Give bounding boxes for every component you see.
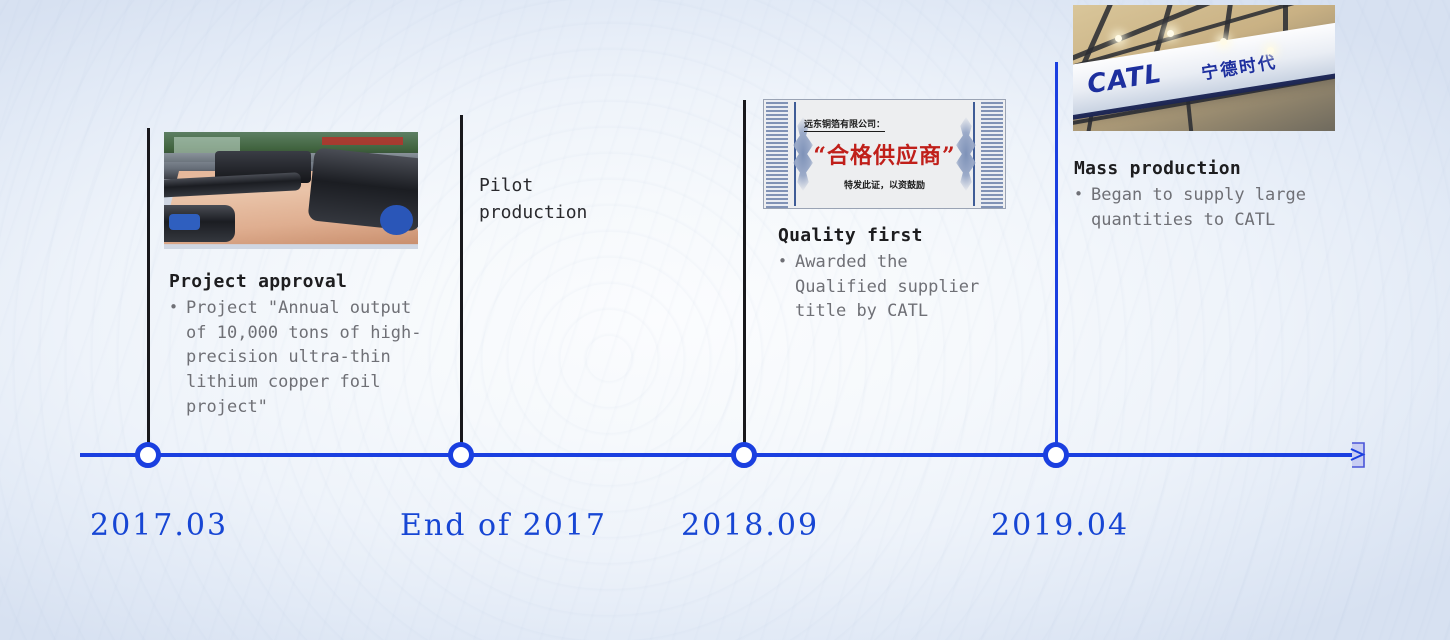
timeline-node-3[interactable] [731,442,757,468]
catl-chinese-text: 宁德时代 [1199,48,1278,85]
certificate-footer: 特发此证，以资鼓励 [844,178,925,191]
bullet-marker-icon: • [1074,183,1083,232]
timeline-date-1: 2017.03 [90,508,228,543]
timeline-axis [80,453,1360,457]
milestone-bullet-3: • Awarded the Qualified supplier title b… [778,250,1008,324]
timeline-date-4: 2019.04 [991,508,1129,543]
milestone-bullet-text-1: Project "Annual output of 10,000 tons of… [186,296,431,419]
certificate-recipient: 远东铜箔有限公司： [804,117,885,132]
milestone-heading-2-line1: Pilot [479,172,699,199]
certificate-title: “合格供应商” [813,138,955,170]
arrow-right-icon [1349,440,1369,470]
milestone-bullet-text-3: Awarded the Qualified supplier title by … [795,250,1008,324]
catl-logo-text: CATL [1085,59,1164,100]
milestone-heading-3: Quality first [778,225,1008,246]
milestone-stem-2 [460,115,463,450]
milestone-text-3: Quality first • Awarded the Qualified su… [778,225,1008,324]
milestone-text-4: Mass production • Began to supply large … [1074,158,1326,232]
timeline-date-3: 2018.09 [681,508,819,543]
milestone-text-2: Pilot production [479,172,699,226]
milestone-bullet-4: • Began to supply large quantities to CA… [1074,183,1326,232]
timeline-node-4[interactable] [1043,442,1069,468]
copper-foil-production-line-photo [164,132,418,249]
timeline-date-2: End of 2017 [400,508,607,543]
milestone-heading-1: Project approval [169,271,431,292]
milestone-stem-1 [147,128,150,450]
slide-canvas: 远东铜箔有限公司： “合格供应商” 特发此证，以资鼓励 CATL 宁德时代 [0,0,1450,640]
catl-booth-banner-photo: CATL 宁德时代 [1073,5,1335,131]
qualified-supplier-certificate-photo: 远东铜箔有限公司： “合格供应商” 特发此证，以资鼓励 [763,99,1006,209]
timeline-node-2[interactable] [448,442,474,468]
timeline-node-1[interactable] [135,442,161,468]
bullet-marker-icon: • [778,250,787,324]
milestone-heading-4: Mass production [1074,158,1326,179]
milestone-bullet-1: • Project "Annual output of 10,000 tons … [169,296,431,419]
milestone-bullet-text-4: Began to supply large quantities to CATL [1091,183,1326,232]
milestone-stem-4 [1055,62,1058,450]
bullet-marker-icon: • [169,296,178,419]
milestone-heading-2-line2: production [479,199,699,226]
milestone-stem-3 [743,100,746,450]
milestone-text-1: Project approval • Project "Annual outpu… [169,271,431,419]
